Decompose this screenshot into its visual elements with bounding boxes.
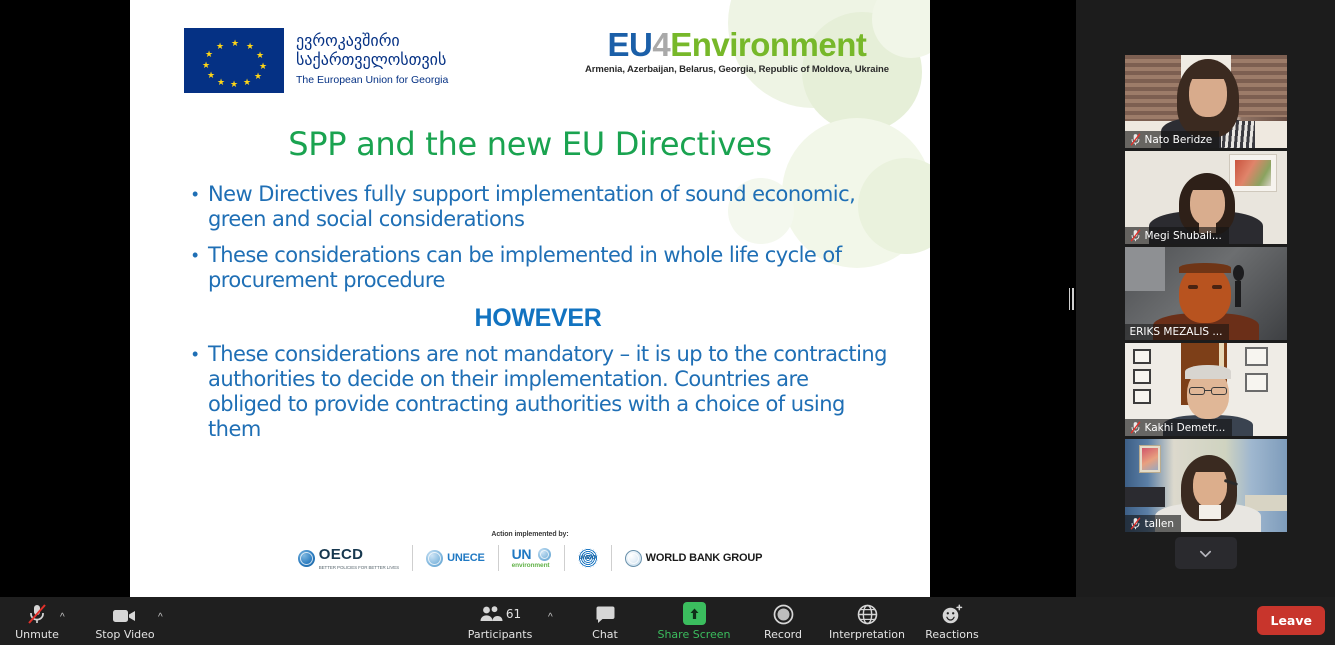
globe-icon (298, 550, 315, 567)
microphone-muted-icon (1130, 229, 1141, 242)
share-screen-icon (683, 603, 706, 625)
share-screen-label: Share Screen (657, 628, 730, 641)
bullet-text: New Directives fully support implementat… (208, 182, 888, 232)
participant-name-bar: tallen (1125, 515, 1182, 532)
bullet-dot-icon: • (188, 342, 208, 367)
bullet-dot-icon: • (188, 243, 208, 268)
un-environment-sub: environment (512, 563, 551, 570)
eu-flag-icon: ★ ★ ★ ★ ★ ★ ★ ★ ★ ★ ★ ★ (184, 28, 284, 93)
share-screen-button[interactable]: Share Screen (657, 603, 731, 641)
bullet-item: • These considerations are not mandatory… (188, 342, 888, 442)
slide-body: • New Directives fully support implement… (188, 182, 888, 453)
reactions-button[interactable]: Reactions (915, 603, 989, 641)
participant-filmstrip: Nato Beridze M (1076, 0, 1335, 597)
bullet-text: These considerations can be implemented … (208, 243, 888, 293)
stop-video-label: Stop Video (95, 628, 154, 641)
eu-georgia-logo: ★ ★ ★ ★ ★ ★ ★ ★ ★ ★ ★ ★ ევროკავშირ (184, 28, 448, 93)
participant-name-bar: Kakhi Demetr... (1125, 419, 1233, 436)
meeting-toolbar: Unmute ^ Stop Video ^ 61 (0, 597, 1335, 645)
participant-name: ERIKS MEZALIS ... (1130, 326, 1223, 338)
partner-logo-un-environment: UN environment (499, 543, 564, 573)
e4e-eu-text: EU (607, 26, 652, 63)
unido-icon: UNIDO (578, 548, 598, 568)
partner-logo-unido: UNIDO (565, 543, 611, 573)
stop-video-button[interactable]: Stop Video (88, 603, 162, 641)
e4e-four-text: 4 (652, 26, 670, 63)
reactions-label: Reactions (925, 628, 979, 641)
smiley-reaction-icon (941, 603, 963, 625)
participant-name-bar: ERIKS MEZALIS ... (1125, 324, 1230, 340)
e4e-countries: Armenia, Azerbaijan, Belarus, Georgia, R… (585, 64, 889, 75)
slide-title: SPP and the new EU Directives (130, 125, 930, 163)
show-more-participants-button[interactable] (1175, 537, 1237, 569)
eu-logo-english: The European Union for Georgia (296, 74, 448, 86)
bullet-item: • These considerations can be implemente… (188, 243, 888, 293)
unido-label: UNIDO (578, 548, 598, 568)
bullet-text: These considerations are not mandatory –… (208, 342, 888, 442)
record-label: Record (764, 628, 802, 641)
participants-label: Participants (468, 628, 533, 641)
eu-logo-georgian-line2: საქართველოსთვის (296, 50, 448, 69)
participant-name: Nato Beridze (1145, 134, 1213, 146)
participants-icon: 61 (479, 603, 521, 625)
un-globe-icon (426, 550, 443, 567)
participant-tile[interactable]: tallen (1125, 439, 1287, 532)
participant-name: tallen (1145, 518, 1175, 530)
oecd-tagline: BETTER POLICIES FOR BETTER LIVES (319, 565, 399, 570)
unmute-label: Unmute (15, 628, 59, 641)
oecd-label: OECD (319, 546, 364, 563)
unece-label: UNECE (447, 552, 485, 564)
interpretation-button[interactable]: Interpretation (830, 603, 904, 641)
slide-emphasis-text: HOWEVER (188, 304, 888, 333)
microphone-muted-icon (26, 603, 48, 625)
participant-name: Megi Shubali... (1145, 230, 1222, 242)
interpretation-label: Interpretation (829, 628, 905, 641)
un-label: UN (512, 546, 532, 562)
participant-tile[interactable]: Nato Beridze (1125, 55, 1287, 148)
world-bank-label: WORLD BANK GROUP (646, 552, 763, 564)
partner-logo-oecd: OECD BETTER POLICIES FOR BETTER LIVES (285, 543, 412, 573)
bullet-dot-icon: • (188, 182, 208, 207)
leave-meeting-button[interactable]: Leave (1257, 606, 1325, 635)
presentation-slide: ★ ★ ★ ★ ★ ★ ★ ★ ★ ★ ★ ★ ევროკავშირ (130, 0, 930, 597)
eu-logo-georgian-line1: ევროკავშირი (296, 31, 448, 50)
world-bank-globe-icon (625, 550, 642, 567)
chat-bubble-icon (595, 603, 616, 625)
partner-logo-world-bank: WORLD BANK GROUP (612, 543, 776, 573)
panel-drag-handle[interactable] (1067, 288, 1075, 310)
microphone-muted-icon (1130, 421, 1141, 434)
eu4environment-logo: EU4Environment Armenia, Azerbaijan, Bela… (585, 27, 889, 75)
bullet-item: • New Directives fully support implement… (188, 182, 888, 232)
partner-logo-unece: UNECE (413, 543, 498, 573)
participant-name: Kakhi Demetr... (1145, 422, 1226, 434)
e4e-environment-text: Environment (670, 26, 866, 63)
video-camera-icon (112, 603, 138, 625)
globe-icon (857, 603, 878, 625)
slide-header: ★ ★ ★ ★ ★ ★ ★ ★ ★ ★ ★ ★ ევროკავშირ (130, 0, 930, 108)
slide-footer: Action implemented by: OECD BETTER POLIC… (130, 531, 930, 573)
zoom-meeting-window: ★ ★ ★ ★ ★ ★ ★ ★ ★ ★ ★ ★ ევროკავშირ (0, 0, 1335, 645)
shared-screen-stage[interactable]: ★ ★ ★ ★ ★ ★ ★ ★ ★ ★ ★ ★ ევროკავშირ (0, 0, 1070, 597)
participant-name-bar: Megi Shubali... (1125, 227, 1229, 244)
participants-button[interactable]: 61 Participants (463, 603, 537, 641)
participants-options-caret-icon[interactable]: ^ (548, 613, 553, 623)
audio-options-caret-icon[interactable]: ^ (60, 613, 65, 623)
microphone-muted-icon (1130, 517, 1141, 530)
chat-label: Chat (592, 628, 618, 641)
chevron-down-icon (1198, 546, 1213, 561)
participant-name-bar: Nato Beridze (1125, 131, 1220, 148)
video-options-caret-icon[interactable]: ^ (158, 613, 163, 623)
record-circle-icon (773, 603, 794, 625)
microphone-muted-icon (1130, 133, 1141, 146)
participants-count: 61 (506, 607, 521, 621)
participant-tile-active-speaker[interactable]: ERIKS MEZALIS ... (1125, 247, 1287, 340)
record-button[interactable]: Record (746, 603, 820, 641)
implemented-by-label: Action implemented by: (130, 531, 930, 538)
un-env-globe-icon (538, 548, 551, 561)
participant-tile[interactable]: Megi Shubali... (1125, 151, 1287, 244)
chat-button[interactable]: Chat (568, 603, 642, 641)
participant-tile[interactable]: Kakhi Demetr... (1125, 343, 1287, 436)
